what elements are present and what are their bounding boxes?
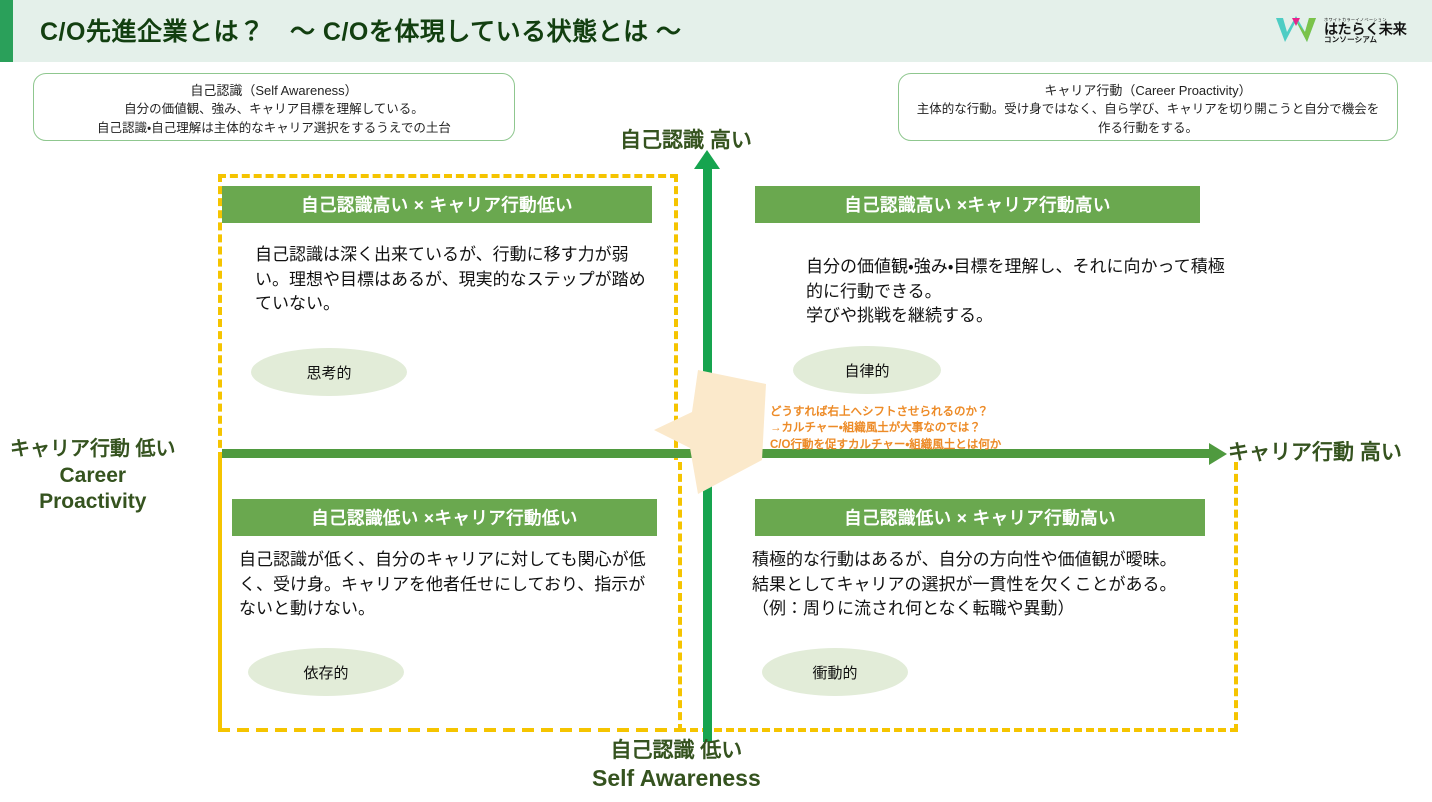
quadrant-frame-bottom-left-edge <box>218 460 222 732</box>
quadrant-body-low-awareness-high-proactivity: 積極的な行動はあるが、自分の方向性や価値観が曖昧。結果としてキャリアの選択が一貫… <box>752 548 1182 622</box>
callout-career-proactivity: キャリア行動（Career Proactivity） 主体的な行動。受け身ではな… <box>898 73 1398 141</box>
header-accent-bar <box>0 0 13 62</box>
logo-name: はたらく未来 <box>1324 22 1407 36</box>
quadrant-heading-low-awareness-high-proactivity: 自己認識低い × キャリア行動高い <box>755 499 1205 536</box>
shift-arrow-icon <box>652 368 772 496</box>
callout-left-line2: 自分の価値観、強み、キャリア目標を理解している。 <box>44 100 504 119</box>
page-title: C/O先進企業とは？ 〜 C/Oを体現している状態とは 〜 <box>40 12 682 48</box>
axis-label-top: 自己認識 高い <box>620 124 752 154</box>
quadrant-pill-autonomous: 自律的 <box>793 346 941 394</box>
axis-label-bottom-en: Self Awareness <box>592 764 761 793</box>
quadrant-pill-dependent: 依存的 <box>248 648 404 696</box>
quadrant-heading-high-awareness-low-proactivity: 自己認識高い × キャリア行動低い <box>222 186 652 223</box>
quadrant-pill-impulsive: 衝動的 <box>762 648 908 696</box>
axis-label-left-en1: Career <box>10 463 176 490</box>
consortium-logo: ホワイトカラーイノベーション はたらく未来 コンソーシアム <box>1274 8 1422 54</box>
callout-right-title: キャリア行動（Career Proactivity） <box>909 81 1387 100</box>
axis-label-bottom: 自己認識 低い Self Awareness <box>592 738 761 793</box>
axis-label-right: キャリア行動 高い <box>1228 436 1402 466</box>
callout-self-awareness: 自己認識（Self Awareness） 自分の価値観、強み、キャリア目標を理解… <box>33 73 515 141</box>
axis-label-left-en2: Proactivity <box>10 489 176 516</box>
callout-right-line2: 主体的な行動。受け身ではなく、自ら学び、キャリアを切り開こうと自分で機会を <box>909 100 1387 119</box>
quadrant-body-high-awareness-low-proactivity: 自己認識は深く出来ているが、行動に移す力が弱い。理想や目標はあるが、現実的なステ… <box>255 243 655 317</box>
center-annotation-note: どうすれば右上へシフトさせられるのか？ →カルチャー・組織風土が大事なのでは？ … <box>770 404 1020 453</box>
horizontal-axis-arrow-icon <box>1209 443 1227 465</box>
axis-label-left-ja: キャリア行動 低い <box>10 438 176 460</box>
callout-left-title: 自己認識（Self Awareness） <box>44 81 504 100</box>
axis-label-left: キャリア行動 低い Career Proactivity <box>10 437 176 516</box>
quadrant-frame-bottom-left-base <box>218 728 682 732</box>
quadrant-heading-high-awareness-high-proactivity: 自己認識高い ×キャリア行動高い <box>755 186 1200 223</box>
quadrant-heading-low-awareness-low-proactivity: 自己認識低い ×キャリア行動低い <box>232 499 657 536</box>
logo-w-mark <box>1274 16 1318 46</box>
quadrant-body-high-awareness-high-proactivity: 自分の価値観・強み・目標を理解し、それに向かって積極的に行動できる。 学びや挑戦… <box>806 255 1226 329</box>
callout-right-line3: 作る行動をする。 <box>909 119 1387 138</box>
logo-subname: コンソーシアム <box>1324 36 1407 44</box>
quadrant-pill-thinking: 思考的 <box>251 348 407 396</box>
callout-left-line3: 自己認識・自己理解は主体的なキャリア選択をするうえでの土台 <box>44 119 504 138</box>
slide-header: C/O先進企業とは？ 〜 C/Oを体現している状態とは 〜 ホワイトカラーイノベ… <box>0 0 1432 62</box>
axis-label-bottom-ja: 自己認識 低い <box>610 739 742 762</box>
quadrant-body-low-awareness-low-proactivity: 自己認識が低く、自分のキャリアに対しても関心が低く、受け身。キャリアを他者任せに… <box>239 548 659 622</box>
